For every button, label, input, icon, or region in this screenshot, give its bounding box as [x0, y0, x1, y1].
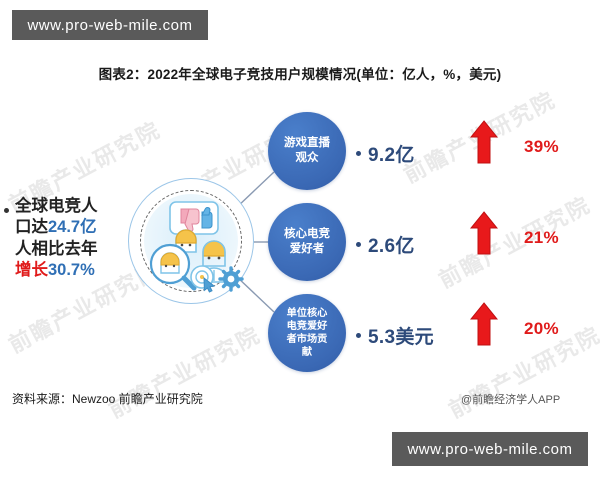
- population-value: 24.7亿: [48, 218, 97, 236]
- credit-note: @前瞻经济学人APP: [461, 391, 560, 407]
- growth-label: 增长: [15, 261, 48, 279]
- value-row-3: 5.3美元: [356, 322, 434, 349]
- diagonal-watermark: 前瞻产业研究院: [442, 317, 600, 424]
- growth-percent-2: 21%: [524, 228, 559, 248]
- node-label-line: 者市场贡: [287, 333, 328, 346]
- growth-value: 30.7%: [48, 261, 95, 279]
- node-circle-arpu-contribution[interactable]: 单位核心 电竞爱好 者市场贡 献: [268, 294, 346, 372]
- up-arrow-icon: [470, 211, 498, 255]
- growth-percent-3: 20%: [524, 319, 559, 339]
- summary-text: 全球电竞人 口达24.7亿 人相比去年 增长30.7%: [15, 196, 132, 282]
- summary-line-2-text: 口达: [15, 218, 48, 236]
- up-arrow-icon: [470, 120, 498, 164]
- node-label-line: 电竞爱好: [287, 320, 328, 333]
- node-label: 游戏直播 观众: [278, 136, 336, 165]
- node-circle-core-esports-fans[interactable]: 核心电竞 爱好者: [268, 203, 346, 281]
- node-label: 单位核心 电竞爱好 者市场贡 献: [281, 307, 334, 359]
- summary-line-3-text: 人相比去年: [15, 240, 98, 258]
- node-circle-live-streaming-viewers[interactable]: 游戏直播 观众: [268, 112, 346, 190]
- value-row-2: 2.6亿: [356, 231, 415, 258]
- value-bullet-icon: [356, 333, 361, 338]
- node-label-line: 观众: [284, 151, 330, 166]
- value-bullet-icon: [356, 242, 361, 247]
- summary-block: 全球电竞人 口达24.7亿 人相比去年 增长30.7%: [4, 196, 132, 282]
- node-label-line: 献: [287, 346, 328, 359]
- bullet-dot-icon: [4, 208, 9, 213]
- summary-line-4: 增长30.7%: [15, 260, 132, 281]
- node-value: 9.2亿: [368, 140, 415, 167]
- hub-illustration: [128, 178, 254, 304]
- node-value: 5.3美元: [368, 322, 434, 349]
- summary-line-1-text: 全球电竞人: [15, 197, 98, 215]
- node-label-line: 爱好者: [284, 242, 330, 257]
- diagonal-watermark: 前瞻产业研究院: [432, 187, 595, 294]
- node-label-line: 单位核心: [287, 307, 328, 320]
- gear-icon: [220, 268, 242, 290]
- node-label-line: 游戏直播: [284, 136, 330, 151]
- node-label: 核心电竞 爱好者: [278, 227, 336, 256]
- diagonal-watermark: 前瞻产业研究院: [102, 317, 265, 424]
- summary-line-3: 人相比去年: [15, 239, 132, 260]
- growth-percent-1: 39%: [524, 137, 559, 157]
- value-bullet-icon: [356, 151, 361, 156]
- watermark-badge-bottom: www.pro-web-mile.com: [392, 432, 588, 466]
- chart-title: 图表2：2022年全球电子竞技用户规模情况(单位：亿人，%，美元): [0, 63, 600, 83]
- watermark-badge-top: www.pro-web-mile.com: [12, 10, 208, 40]
- up-arrow-icon: [470, 302, 498, 346]
- node-value: 2.6亿: [368, 231, 415, 258]
- source-note: 资料来源：Newzoo 前瞻产业研究院: [12, 390, 203, 407]
- node-label-line: 核心电竞: [284, 227, 330, 242]
- hub-icons: [128, 178, 254, 304]
- summary-line-2: 口达24.7亿: [15, 217, 132, 238]
- summary-line-1: 全球电竞人: [15, 196, 132, 217]
- value-row-1: 9.2亿: [356, 140, 415, 167]
